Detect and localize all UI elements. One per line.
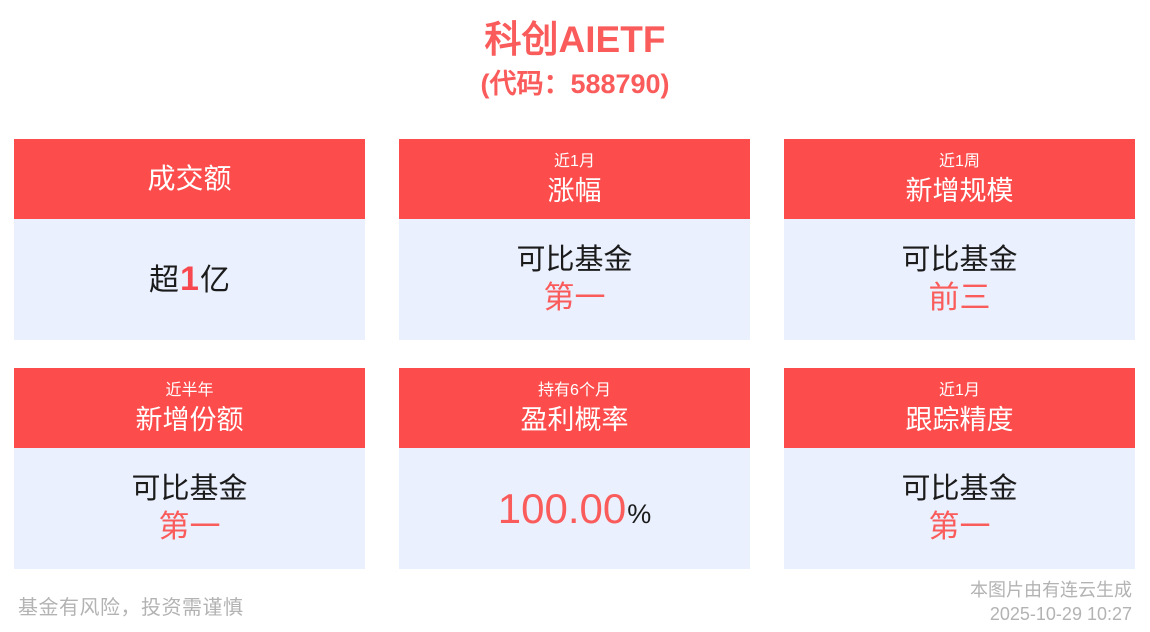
percent-value: 100.00 [498, 485, 626, 533]
card-value-turnover: 超1亿 [149, 259, 230, 301]
card-body-tracking-accuracy: 可比基金 第一 [784, 448, 1135, 569]
footer-meta: 本图片由有连云生成 2025-10-29 10:27 [970, 574, 1132, 626]
card-header-monthly-gain: 近1月 涨幅 [399, 139, 750, 219]
card-body-profit-probability: 100.00% [399, 448, 750, 569]
value-suffix: 亿 [200, 261, 230, 301]
card-header-tracking-accuracy: 近1月 跟踪精度 [784, 368, 1135, 448]
card-value-rank: 第一 [159, 508, 221, 546]
card-value-rank: 第一 [929, 508, 991, 546]
card-value-label: 可比基金 [131, 471, 247, 507]
metric-card-weekly-scale-growth: 近1周 新增规模 可比基金 前三 [784, 139, 1135, 340]
card-body-monthly-gain: 可比基金 第一 [399, 219, 750, 340]
card-body-turnover: 超1亿 [14, 219, 365, 340]
etf-highlight-poster: 科创AIETF (代码：588790) 成交额 超1亿 近1月 涨幅 可比基金 … [0, 0, 1150, 632]
metric-card-profit-probability: 持有6个月 盈利概率 100.00% [399, 368, 750, 569]
card-value-rank: 前三 [929, 279, 991, 317]
card-value-label: 可比基金 [901, 242, 1017, 278]
percent-symbol: % [627, 497, 651, 531]
page-title: 科创AIETF [485, 18, 666, 62]
card-header-title: 新增份额 [136, 403, 244, 437]
card-value-rank: 第一 [544, 279, 606, 317]
card-header-weekly-scale-growth: 近1周 新增规模 [784, 139, 1135, 219]
card-header-title: 涨幅 [548, 174, 602, 208]
card-value-label: 可比基金 [516, 242, 632, 278]
poster-footer: 基金有风险，投资需谨慎 本图片由有连云生成 2025-10-29 10:27 [0, 568, 1150, 632]
metric-card-turnover: 成交额 超1亿 [14, 139, 365, 340]
card-value-percent: 100.00% [498, 485, 651, 533]
card-header-period: 持有6个月 [538, 380, 611, 402]
card-header-period: 近1月 [939, 380, 980, 402]
card-header-period: 近半年 [165, 380, 213, 402]
generator-credit: 本图片由有连云生成 [970, 578, 1132, 602]
card-header-title: 盈利概率 [521, 403, 629, 437]
generated-timestamp: 2025-10-29 10:27 [970, 602, 1132, 626]
card-header-turnover: 成交额 [14, 139, 365, 219]
card-header-title: 成交额 [147, 162, 231, 196]
metric-card-halfyear-share-growth: 近半年 新增份额 可比基金 第一 [14, 368, 365, 569]
card-header-title: 新增规模 [906, 174, 1014, 208]
value-prefix: 超 [149, 261, 179, 301]
metric-card-tracking-accuracy: 近1月 跟踪精度 可比基金 第一 [784, 368, 1135, 569]
card-header-title: 跟踪精度 [906, 403, 1014, 437]
fund-code-subtitle: (代码：588790) [480, 67, 669, 101]
card-header-period: 近1周 [939, 151, 980, 173]
card-body-weekly-scale-growth: 可比基金 前三 [784, 219, 1135, 340]
card-header-profit-probability: 持有6个月 盈利概率 [399, 368, 750, 448]
card-header-halfyear-share-growth: 近半年 新增份额 [14, 368, 365, 448]
card-value-label: 可比基金 [901, 471, 1017, 507]
metric-card-grid: 成交额 超1亿 近1月 涨幅 可比基金 第一 近1周 新增规模 [14, 139, 1136, 569]
risk-disclaimer: 基金有风险，投资需谨慎 [18, 578, 244, 622]
poster-header: 科创AIETF (代码：588790) [0, 0, 1150, 122]
metric-card-monthly-gain: 近1月 涨幅 可比基金 第一 [399, 139, 750, 340]
card-header-period: 近1月 [554, 151, 595, 173]
value-accent-number: 1 [179, 259, 200, 299]
card-body-halfyear-share-growth: 可比基金 第一 [14, 448, 365, 569]
